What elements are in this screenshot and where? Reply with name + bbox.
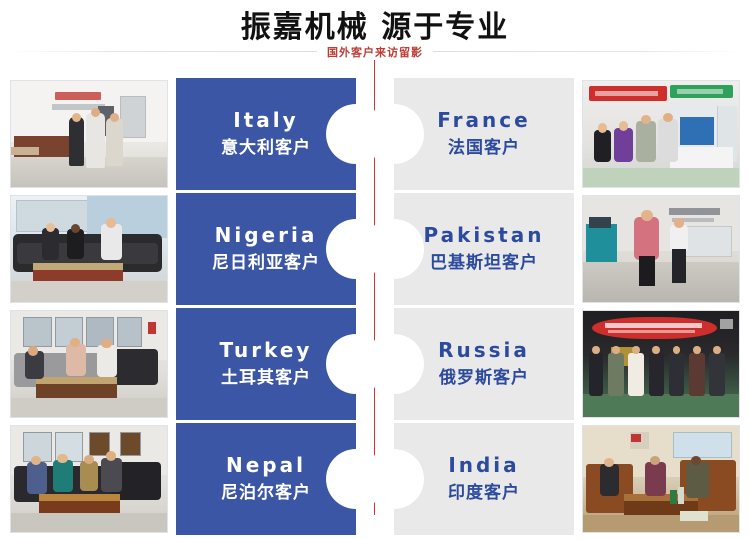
country-name-en: India	[448, 454, 519, 477]
card-notch-right	[364, 334, 424, 394]
country-row: Italy 意大利客户 France 法国客户	[0, 78, 750, 193]
visit-photo-left[interactable]	[10, 80, 168, 188]
country-name-en: Italy	[233, 109, 298, 132]
country-name-en: Turkey	[220, 339, 313, 362]
country-name-cn: 尼日利亚客户	[212, 253, 320, 274]
country-name-cn: 意大利客户	[221, 138, 311, 159]
country-name-cn: 巴基斯坦客户	[430, 253, 538, 274]
wooden-sofa-wall-map-photo	[583, 426, 739, 532]
country-name-cn: 尼泊尔客户	[221, 483, 311, 504]
four-people-sofa-photo	[11, 426, 167, 532]
visit-photo-right[interactable]	[582, 80, 740, 188]
visit-photo-right[interactable]	[582, 310, 740, 418]
country-name-en: Nigeria	[215, 224, 318, 247]
office-lobby-photo	[11, 81, 167, 187]
trade-show-booth-photo	[583, 81, 739, 187]
meeting-room-windows-photo	[11, 311, 167, 417]
country-row: Nigeria 尼日利亚客户 Pakistan 巴基斯坦客户	[0, 193, 750, 308]
country-name-cn: 俄罗斯客户	[439, 368, 529, 389]
country-name-en: Pakistan	[424, 224, 545, 247]
customer-visit-gallery-page: 振嘉机械 源于专业 国外客户来访留影 Italy	[0, 0, 750, 539]
visit-photo-right[interactable]	[582, 195, 740, 303]
visit-photo-right[interactable]	[582, 425, 740, 533]
country-name-en: France	[437, 109, 530, 132]
country-name-cn: 法国客户	[448, 138, 520, 159]
country-name-en: Nepal	[226, 454, 306, 477]
country-row: Nepal 尼泊尔客户 India 印度客户	[0, 423, 750, 538]
country-name-cn: 土耳其客户	[221, 368, 311, 389]
sofa-tea-table-photo	[11, 196, 167, 302]
country-name-cn: 印度客户	[448, 483, 520, 504]
card-notch-right	[364, 104, 424, 164]
country-rows: Italy 意大利客户 France 法国客户	[0, 0, 750, 539]
exhibition-booth-group-photo	[583, 311, 739, 417]
visit-photo-left[interactable]	[10, 195, 168, 303]
card-notch-right	[364, 449, 424, 509]
country-row: Turkey 土耳其客户 Russia 俄罗斯客户	[0, 308, 750, 423]
country-name-en: Russia	[438, 339, 530, 362]
card-notch-right	[364, 219, 424, 279]
showroom-machinery-photo	[583, 196, 739, 302]
visit-photo-left[interactable]	[10, 425, 168, 533]
visit-photo-left[interactable]	[10, 310, 168, 418]
